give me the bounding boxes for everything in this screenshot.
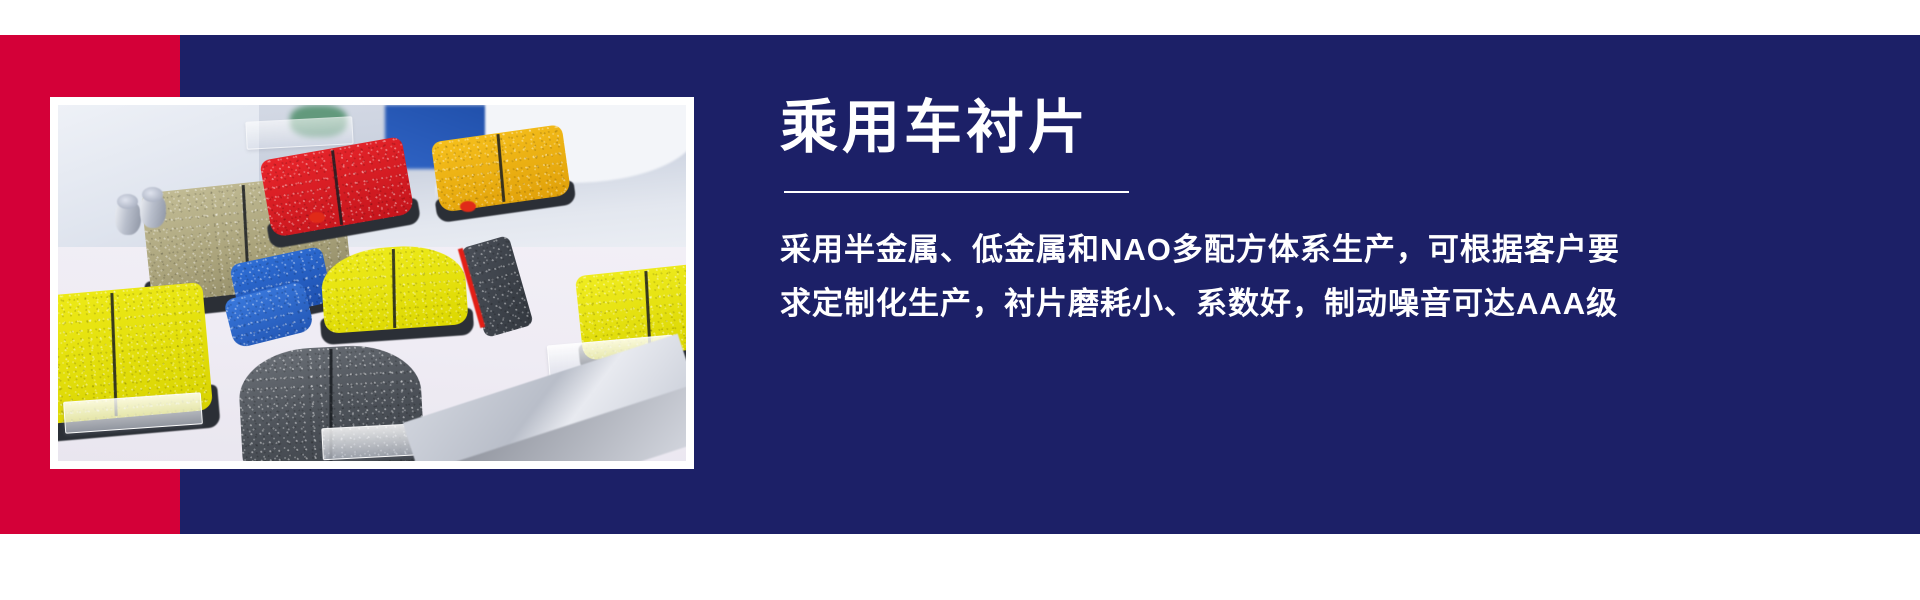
photo-pad-yellow-curved [319, 242, 469, 334]
product-description: 采用半金属、低金属和NAO多配方体系生产，可根据客户要 求定制化生产，衬片磨耗小… [780, 223, 1840, 332]
banner-content: 乘用车衬片 采用半金属、低金属和NAO多配方体系生产，可根据客户要 求定制化生产… [780, 96, 1855, 331]
product-photo-frame [50, 97, 694, 469]
photo-clip-dot-red [309, 212, 325, 223]
photo-clip-dot-orange [460, 201, 476, 212]
photo-bolt-left-b [140, 194, 166, 228]
product-photo [58, 105, 686, 461]
photo-bolt-left-a [115, 201, 141, 235]
description-line-1: 采用半金属、低金属和NAO多配方体系生产，可根据客户要 [780, 223, 1840, 277]
product-title: 乘用车衬片 [780, 96, 1855, 161]
product-banner: 乘用车衬片 采用半金属、低金属和NAO多配方体系生产，可根据客户要 求定制化生产… [0, 0, 1920, 600]
description-line-2: 求定制化生产，衬片磨耗小、系数好，制动噪音可达AAA级 [780, 277, 1840, 331]
title-divider [784, 191, 1129, 193]
